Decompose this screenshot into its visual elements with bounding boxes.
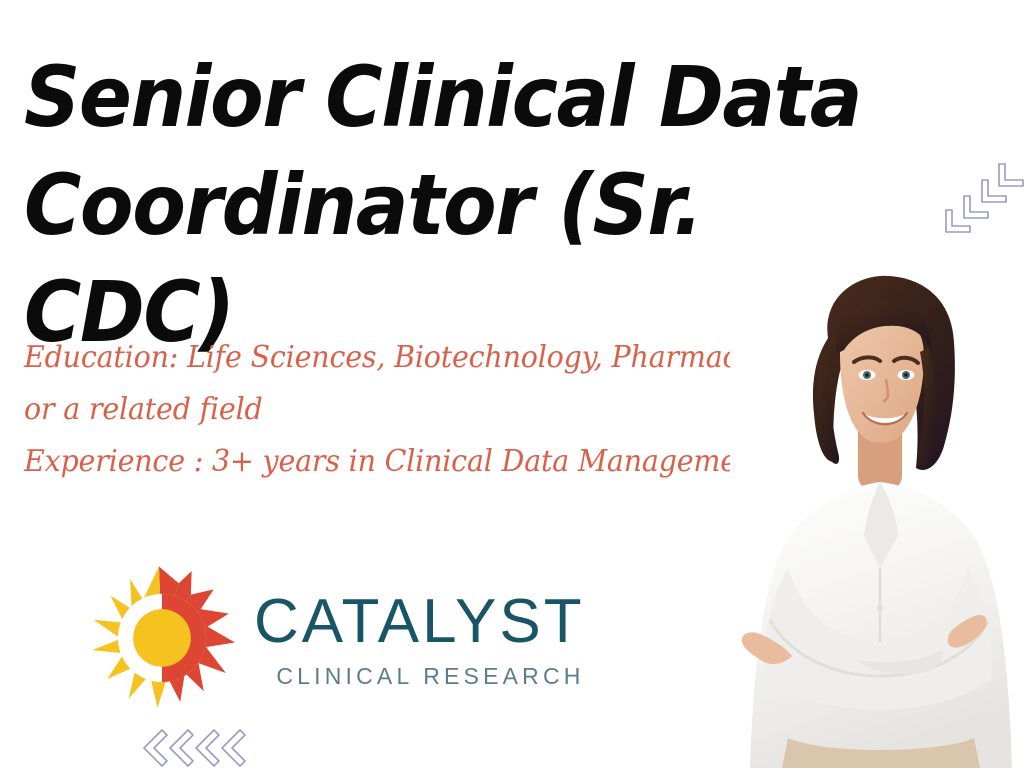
brand-logo: CATALYST CLINICAL RESEARCH <box>86 562 666 714</box>
requirement-experience: Experience : 3+ years in Clinical Data M… <box>24 436 784 488</box>
businesswoman-portrait-image <box>730 268 1024 768</box>
person-photo <box>730 268 1024 768</box>
requirement-education-line2: or a related field <box>24 384 784 436</box>
sunburst-icon <box>86 562 238 714</box>
double-chevron-left-icon <box>140 726 260 768</box>
chevrons-decoration <box>140 726 260 768</box>
logo-wordmark: CATALYST <box>254 593 585 652</box>
requirements-block: Education: Life Sciences, Biotechnology,… <box>24 332 824 488</box>
corner-brackets-icon <box>944 158 1024 258</box>
requirement-education-line1: Education: Life Sciences, Biotechnology,… <box>24 332 784 384</box>
job-posting-poster: Senior Clinical Data Coordinator (Sr. CD… <box>0 0 1024 768</box>
corner-brackets-decoration <box>944 158 1024 258</box>
logo-tagline: CLINICAL RESEARCH <box>276 664 584 689</box>
logo-wordmark-group: CATALYST CLINICAL RESEARCH <box>254 587 585 689</box>
